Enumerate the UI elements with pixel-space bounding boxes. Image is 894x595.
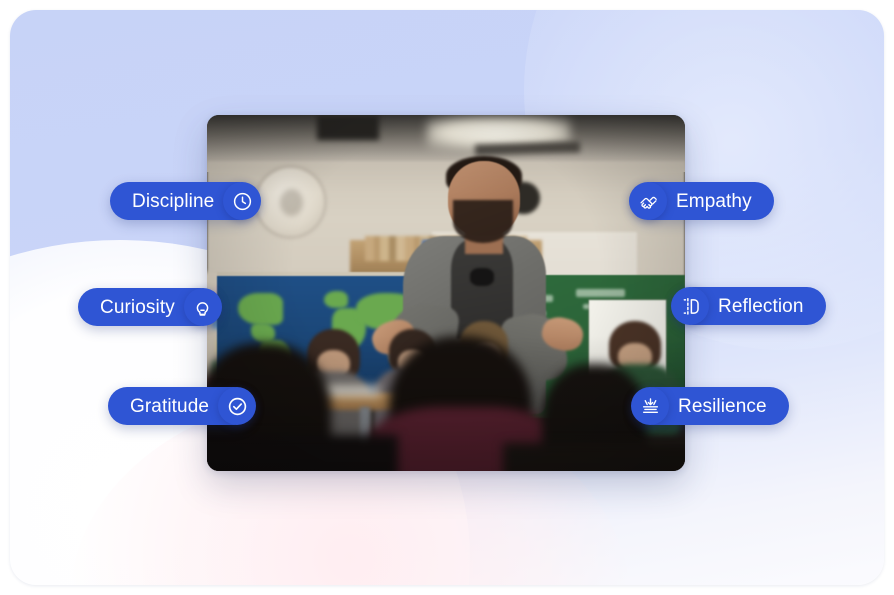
compress-arrows-icon (631, 387, 669, 425)
tag-pill-curiosity[interactable]: Curiosity (78, 288, 219, 326)
tag-label-gratitude: Gratitude (130, 397, 209, 416)
tag-pill-gratitude[interactable]: Gratitude (108, 387, 253, 425)
feature-card: Discipline Curiosity Gratitude (10, 10, 884, 585)
classroom-photo (207, 115, 685, 471)
handshake-icon (629, 182, 667, 220)
tag-label-reflection: Reflection (718, 297, 804, 316)
classroom-photo-scene (207, 115, 685, 471)
check-circle-icon (218, 387, 256, 425)
tag-label-discipline: Discipline (132, 192, 214, 211)
tag-pill-discipline[interactable]: Discipline (110, 182, 258, 220)
tag-pill-empathy[interactable]: Empathy (632, 182, 774, 220)
tag-label-curiosity: Curiosity (100, 298, 175, 317)
lightbulb-icon (184, 288, 222, 326)
tag-pill-reflection[interactable]: Reflection (674, 287, 826, 325)
screenshot-stage: Discipline Curiosity Gratitude (0, 0, 894, 595)
tag-label-empathy: Empathy (676, 192, 752, 211)
tag-pill-resilience[interactable]: Resilience (634, 387, 789, 425)
flip-reflect-icon (671, 287, 709, 325)
tag-label-resilience: Resilience (678, 397, 767, 416)
